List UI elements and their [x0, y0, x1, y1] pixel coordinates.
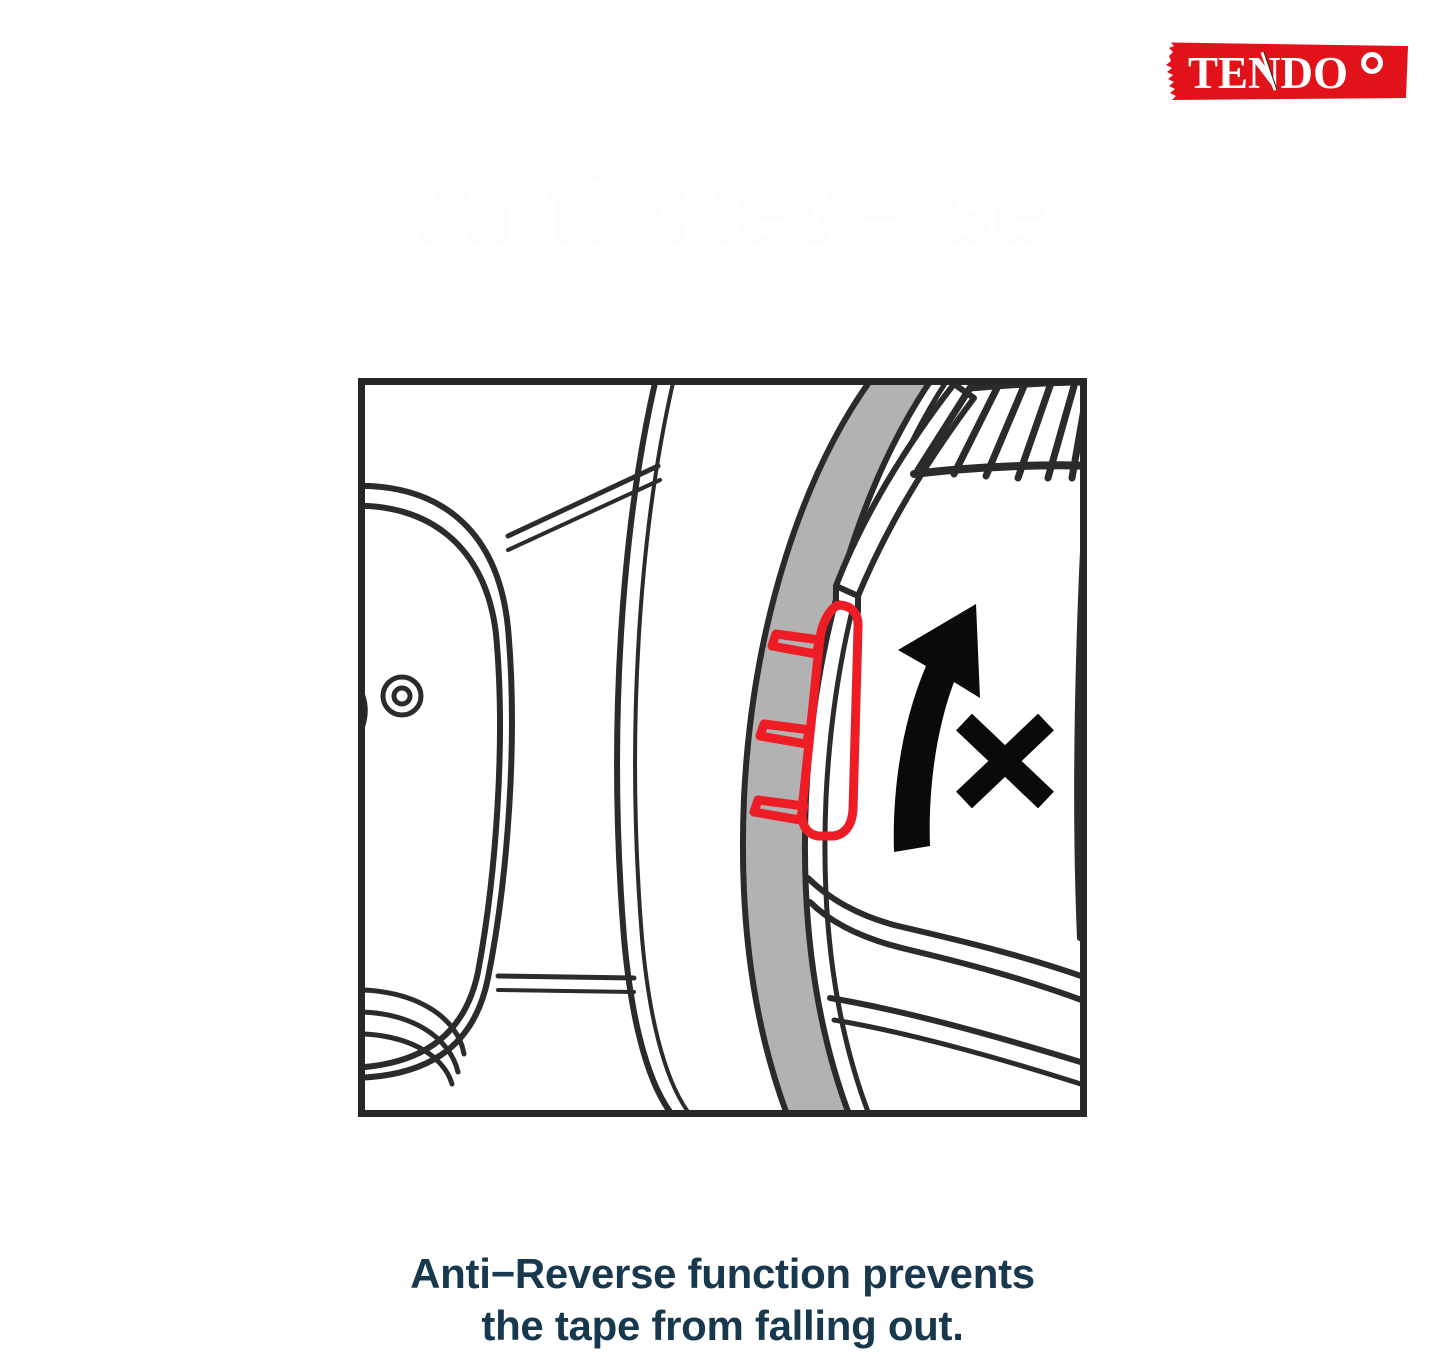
tendo-logo-icon: TENDO: [1160, 42, 1412, 102]
brand-logo: TENDO: [1160, 42, 1412, 102]
caption-line-1: Anti−Reverse function prevents: [0, 1248, 1445, 1300]
header-banner: TENDO Anti−Reverse: [8, 8, 1420, 307]
page-title: Anti−Reverse: [8, 160, 1420, 261]
illustration-tape-measure-diagram: [358, 378, 1087, 1117]
caption: Anti−Reverse function prevents the tape …: [0, 1248, 1445, 1352]
caption-line-2: the tape from falling out.: [0, 1300, 1445, 1352]
